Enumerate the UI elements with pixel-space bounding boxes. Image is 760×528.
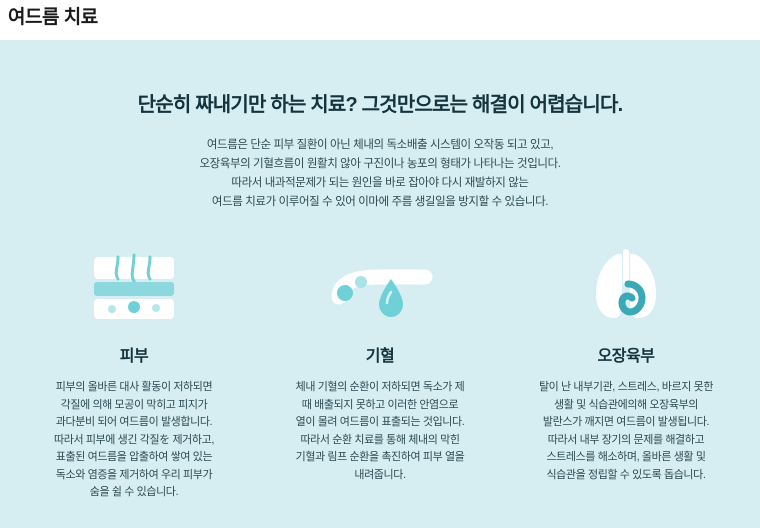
intro-paragraph: 여드름은 단순 피부 질환이 아닌 체내의 독소배출 시스템이 오작동 되고 있…	[0, 136, 760, 212]
body-line: 따라서 피부에 생긴 각질を 제거하고,	[27, 432, 242, 450]
feature-column-skin: 피부 피부의 올바른 대사 활동이 저하되면 각질에 의해 모공이 막히고 피지…	[14, 240, 254, 502]
body-line: 열이 몰려 여드름이 표출되는 것입니다.	[273, 414, 488, 432]
body-line: 따라서 내부 장기의 문제를 해결하고	[519, 432, 734, 450]
intro-line: 여드름 치료가 이루어질 수 있어 이마에 주름 생길일을 방지할 수 있습니다…	[0, 193, 760, 212]
body-line: 피부의 올바른 대사 활동이 저하되면	[27, 379, 242, 397]
body-line: 스트레스를 해소하며, 올바른 생활 및	[519, 449, 734, 467]
body-line: 독소와 염증을 제거하여 우리 피부가	[27, 467, 242, 485]
page-title: 여드름 치료	[8, 2, 98, 29]
body-line: 생활 및 식습관에의해 오장육부의	[519, 397, 734, 415]
lungs-organs-icon	[584, 240, 668, 336]
body-line: 각질에 의해 모공이 막히고 피지가	[27, 397, 242, 415]
blood-vessel-drop-icon	[325, 240, 435, 336]
body-line: 탈이 난 내부기관, 스트레스, 바르지 못한	[519, 379, 734, 397]
body-line: 과다분비 되어 여드름이 발생합니다.	[27, 414, 242, 432]
feature-column-circulation: 기혈 체내 기혈의 순환이 저하되면 독소가 제 때 배출되지 못하고 이러한 …	[260, 240, 500, 502]
body-line: 표출된 여드름을 압출하여 쌓여 있는	[27, 449, 242, 467]
feature-title-organs: 오장육부	[598, 342, 655, 366]
panel-headline: 단순히 짜내기만 하는 치료? 그것만으로는 해결이 어렵습니다.	[0, 88, 760, 117]
feature-body-skin: 피부의 올바른 대사 활동이 저하되면 각질에 의해 모공이 막히고 피지가 과…	[27, 379, 242, 502]
body-line: 기혈과 림프 순환을 촉진하여 피부 열을	[273, 449, 488, 467]
feature-title-circulation: 기혈	[366, 342, 394, 366]
body-line: 내려줍니다.	[273, 467, 488, 485]
body-line: 체내 기혈의 순환이 저하되면 독소가 제	[273, 379, 488, 397]
body-line: 식습관을 정립할 수 있도록 돕습니다.	[519, 467, 734, 485]
feature-title-skin: 피부	[120, 342, 148, 366]
body-line: 숨을 쉴 수 있습니다.	[27, 484, 242, 502]
body-line: 발란스가 깨지면 여드름이 발생됩니다.	[519, 414, 734, 432]
feature-columns: 피부 피부의 올바른 대사 활동이 저하되면 각질에 의해 모공이 막히고 피지…	[0, 240, 760, 502]
body-line: 따라서 순환 치료를 통해 체내의 막힌	[273, 432, 488, 450]
feature-column-organs: 오장육부 탈이 난 내부기관, 스트레스, 바르지 못한 생활 및 식습관에의해…	[506, 240, 746, 502]
body-line: 때 배출되지 못하고 이러한 안염으로	[273, 397, 488, 415]
intro-line: 오장육부의 기혈흐름이 원활치 않아 구진이나 농포의 형태가 나타나는 것입니…	[0, 155, 760, 174]
intro-line: 따라서 내과적문제가 되는 원인을 바로 잡아야 다시 재발하지 않는	[0, 174, 760, 193]
feature-body-circulation: 체내 기혈의 순환이 저하되면 독소가 제 때 배출되지 못하고 이러한 안염으…	[273, 379, 488, 484]
content-panel: 단순히 짜내기만 하는 치료? 그것만으로는 해결이 어렵습니다. 여드름은 단…	[0, 40, 760, 528]
skin-layers-icon	[88, 240, 180, 336]
page-root: 여드름 치료 단순히 짜내기만 하는 치료? 그것만으로는 해결이 어렵습니다.…	[0, 0, 760, 528]
intro-line: 여드름은 단순 피부 질환이 아닌 체내의 독소배출 시스템이 오작동 되고 있…	[0, 136, 760, 155]
feature-body-organs: 탈이 난 내부기관, 스트레스, 바르지 못한 생활 및 식습관에의해 오장육부…	[519, 379, 734, 484]
